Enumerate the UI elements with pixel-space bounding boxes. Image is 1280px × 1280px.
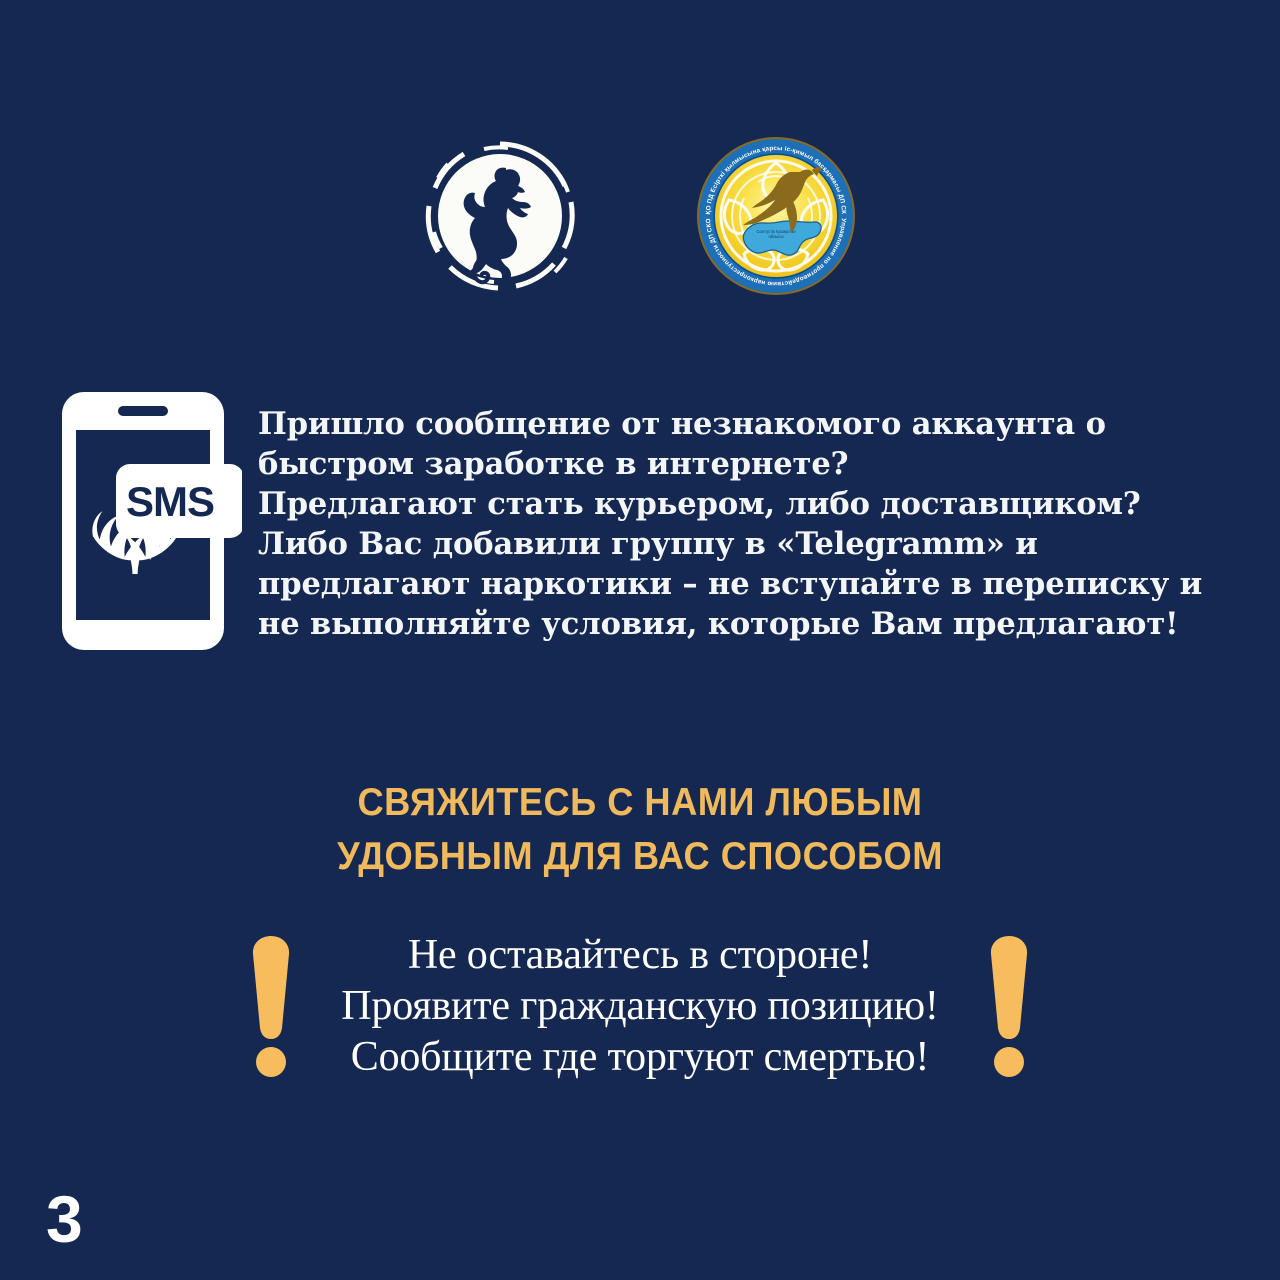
exclamation-mark-right-icon xyxy=(985,932,1033,1082)
appeal-line-3: Сообщите где торгуют смертью! xyxy=(341,1032,938,1083)
warning-line-2: быстром заработке в интернете? xyxy=(258,444,1226,484)
barys-snow-leopard-emblem xyxy=(424,140,576,292)
appeal-line-2: Проявите гражданскую позицию! xyxy=(341,981,938,1032)
warning-line-6: не выполняйте условия, которые Вам предл… xyxy=(258,604,1226,644)
warning-line-5: предлагают наркотики – не вступайте в пе… xyxy=(258,564,1226,604)
sms-phone-drug-icon: SMS xyxy=(62,392,242,650)
appeal-block: Не оставайтесь в стороне! Проявите гражд… xyxy=(0,930,1280,1083)
sms-bubble-label: SMS xyxy=(126,478,214,525)
anti-drug-department-seal: Солтүстік Қазақстан облысы СҚО ПД Есіртк… xyxy=(696,136,856,296)
emblems-row: Солтүстік Қазақстан облысы СҚО ПД Есіртк… xyxy=(0,136,1280,296)
appeal-line-1: Не оставайтесь в стороне! xyxy=(341,930,938,981)
phone-speaker xyxy=(118,406,168,416)
warning-line-4: Либо Вас добавили группу в «Telegramm» и xyxy=(258,524,1226,564)
cta-line-1: СВЯЖИТЕСЬ С НАМИ ЛЮБЫМ xyxy=(45,776,1235,830)
warning-paragraph: Пришло сообщение от незнакомого аккаунта… xyxy=(258,404,1226,644)
warning-line-3: Предлагают стать курьером, либо доставщи… xyxy=(258,484,1226,524)
barys-emblem-svg xyxy=(424,140,576,292)
appeal-lines: Не оставайтесь в стороне! Проявите гражд… xyxy=(341,930,938,1083)
svg-text:облысы: облысы xyxy=(768,234,783,239)
cta-line-2: УДОБНЫМ ДЛЯ ВАС СПОСОБОМ xyxy=(45,830,1235,884)
call-to-action-heading: СВЯЖИТЕСЬ С НАМИ ЛЮБЫМ УДОБНЫМ ДЛЯ ВАС С… xyxy=(45,776,1235,884)
page-number: 3 xyxy=(46,1186,82,1252)
warning-line-1: Пришло сообщение от незнакомого аккаунта… xyxy=(258,404,1226,444)
exclamation-mark-left-icon xyxy=(247,932,295,1082)
seal-svg: Солтүстік Қазақстан облысы СҚО ПД Есіртк… xyxy=(696,136,856,296)
